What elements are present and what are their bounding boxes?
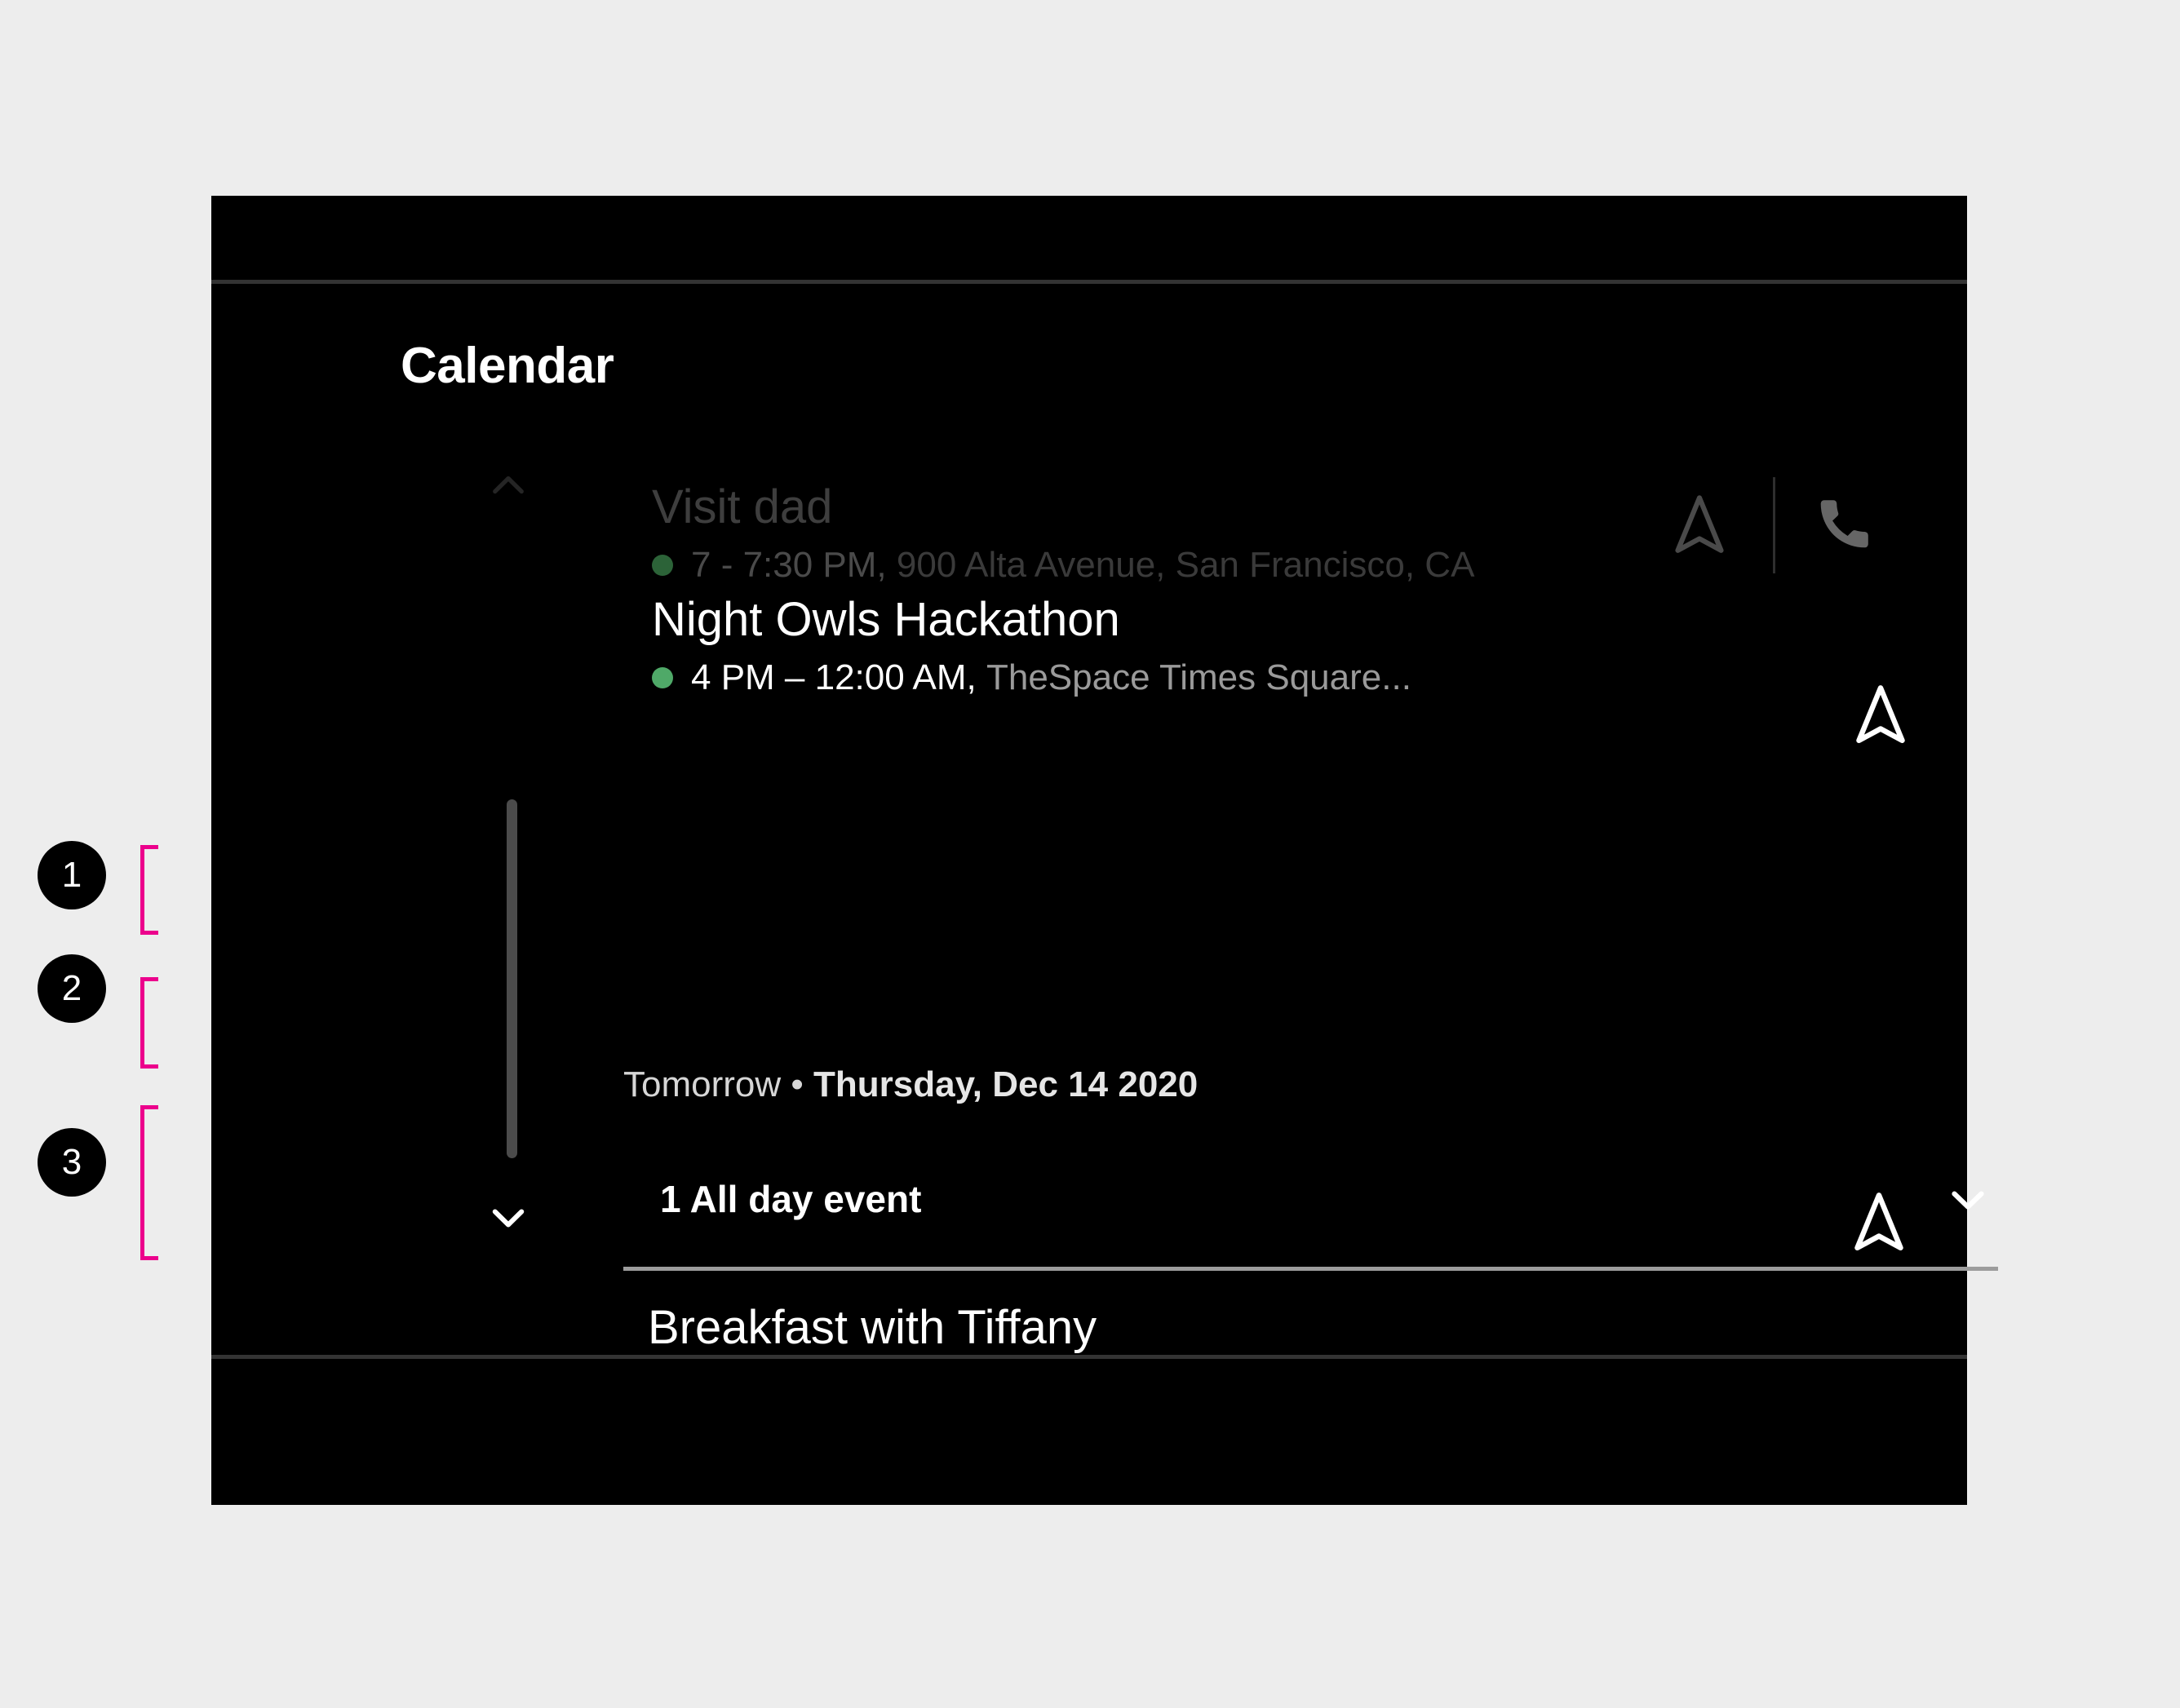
chevron-down-icon bbox=[484, 1193, 533, 1241]
event-row-night-owls-hackathon[interactable]: Night Owls Hackathon 4 PM – 12:00 AM, Th… bbox=[652, 595, 1925, 697]
all-day-events-row[interactable]: 1 All day event bbox=[623, 1154, 2002, 1244]
callout-badge-number: 1 bbox=[38, 841, 106, 909]
event-actions-night-owls-hackathon bbox=[1837, 671, 1925, 759]
event-color-dot bbox=[652, 555, 673, 576]
event-actions-breakfast-with-tiffany bbox=[1835, 1179, 1923, 1267]
event-title: Night Owls Hackathon bbox=[652, 595, 1925, 645]
chevron-down-icon bbox=[1942, 1173, 1994, 1225]
event-actions-visit-dad bbox=[1655, 477, 1893, 573]
navigate-icon bbox=[1844, 1188, 1914, 1258]
event-details: 4 PM – 12:00 AM, TheSpace Times Square..… bbox=[652, 658, 1925, 697]
event-location: 900 Alta Avenue, San Francisco, CA bbox=[897, 546, 1475, 585]
navigate-icon bbox=[1845, 680, 1916, 750]
navigate-button[interactable] bbox=[1655, 481, 1744, 569]
scroll-up-button[interactable] bbox=[484, 461, 533, 510]
day-header-date: Thursday, Dec 14 2020 bbox=[813, 1064, 1198, 1104]
navigate-button[interactable] bbox=[1835, 1179, 1923, 1267]
event-color-dot bbox=[652, 667, 673, 688]
callout-1: 1 bbox=[38, 841, 106, 909]
day-header: Tomorrow • Thursday, Dec 14 2020 bbox=[623, 1064, 1198, 1105]
device-status-bar bbox=[211, 196, 1967, 280]
navigate-icon bbox=[1664, 490, 1735, 560]
navigate-button[interactable] bbox=[1837, 671, 1925, 759]
day-header-relative: Tomorrow bbox=[623, 1064, 781, 1104]
scrollbar-thumb[interactable] bbox=[507, 799, 517, 1158]
action-divider bbox=[1773, 477, 1775, 573]
chevron-up-icon bbox=[484, 461, 533, 510]
page-title: Calendar bbox=[401, 337, 614, 395]
event-time: 4 PM – 12:00 AM, bbox=[691, 658, 977, 697]
phone-icon bbox=[1814, 491, 1883, 560]
event-title: Breakfast with Tiffany bbox=[648, 1303, 1921, 1353]
calendar-app-panel: Calendar Visit dad 7 - 7:30 PM, 900 Alta… bbox=[211, 196, 1967, 1505]
all-day-label: 1 All day event bbox=[623, 1177, 921, 1221]
device-nav-bar bbox=[211, 1359, 1967, 1505]
top-divider bbox=[211, 280, 1967, 284]
call-button[interactable] bbox=[1805, 481, 1893, 569]
callout-2: 2 bbox=[38, 954, 106, 1023]
event-location: TheSpace Times Square... bbox=[986, 658, 1411, 697]
section-divider bbox=[623, 1267, 1998, 1271]
scroll-down-button[interactable] bbox=[484, 1193, 533, 1241]
callout-bracket-1 bbox=[140, 845, 158, 935]
day-header-separator: • bbox=[781, 1064, 813, 1104]
callout-bracket-3 bbox=[140, 1105, 158, 1260]
callout-badge-number: 2 bbox=[38, 954, 106, 1023]
event-time: 7 - 7:30 PM, bbox=[691, 546, 887, 585]
callout-bracket-2 bbox=[140, 977, 158, 1069]
callout-badge-number: 3 bbox=[38, 1128, 106, 1197]
all-day-expand-button[interactable] bbox=[1942, 1173, 1994, 1225]
callout-3: 3 bbox=[38, 1128, 106, 1197]
